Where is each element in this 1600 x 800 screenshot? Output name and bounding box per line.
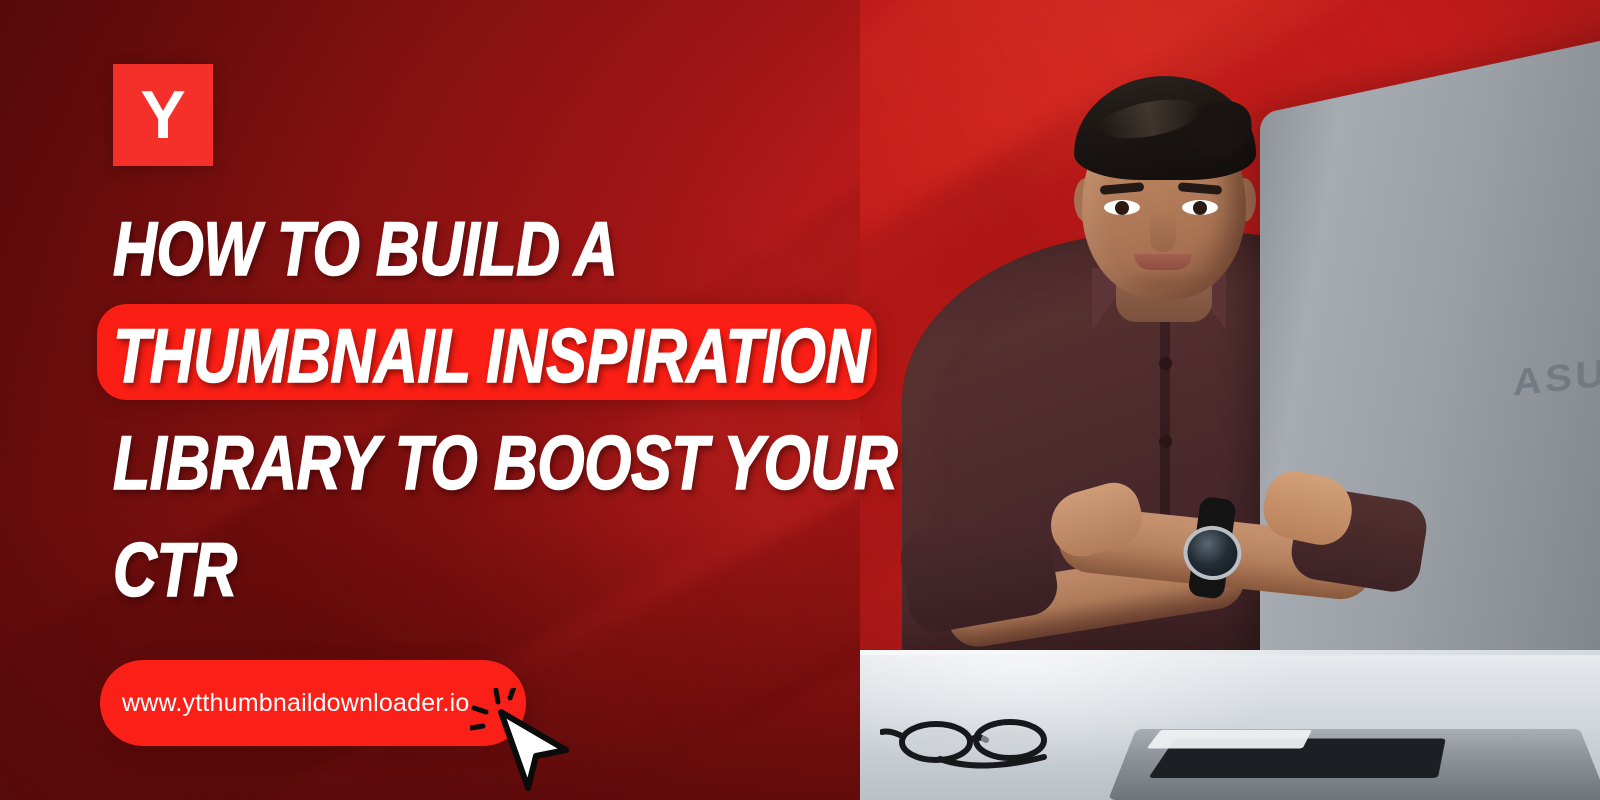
cursor-arrow [501, 712, 566, 788]
headline-line-1: HOW TO BUILD A [113, 196, 785, 303]
laptop-base [1108, 729, 1600, 800]
brand-logo-letter: Y [140, 81, 185, 149]
headline-line-2: THUMBNAIL INSPIRATION [113, 303, 785, 410]
mouth [1134, 254, 1192, 270]
eyeglasses-icon [880, 702, 1070, 772]
headline-block: HOW TO BUILD A THUMBNAIL INSPIRATION LIB… [113, 196, 953, 624]
website-url-pill[interactable]: www.ytthumbnaildownloader.io [100, 660, 526, 746]
laptop-sticker [1147, 730, 1312, 749]
website-url-text: www.ytthumbnaildownloader.io [100, 689, 469, 718]
headline-line-3: LIBRARY TO BOOST YOUR [113, 410, 785, 517]
subject-photo: ASUS [860, 0, 1600, 800]
eye-left [1104, 200, 1140, 215]
shirt-button [1159, 357, 1172, 370]
laptop-lid: ASUS [1260, 12, 1600, 714]
pupil-right [1193, 201, 1207, 215]
brand-logo-badge[interactable]: Y [113, 64, 213, 166]
headline-line-4: CTR [113, 517, 785, 624]
click-cursor-icon [470, 688, 580, 798]
laptop-brand-label: ASUS [1513, 348, 1600, 405]
eye-right [1182, 200, 1218, 215]
chin-shadow [1118, 268, 1210, 296]
youtube-thumbnail: ASUS [0, 0, 1600, 800]
wristwatch [1173, 507, 1253, 590]
nose [1150, 210, 1176, 252]
pupil-left [1115, 201, 1129, 215]
shirt-button [1159, 435, 1172, 448]
